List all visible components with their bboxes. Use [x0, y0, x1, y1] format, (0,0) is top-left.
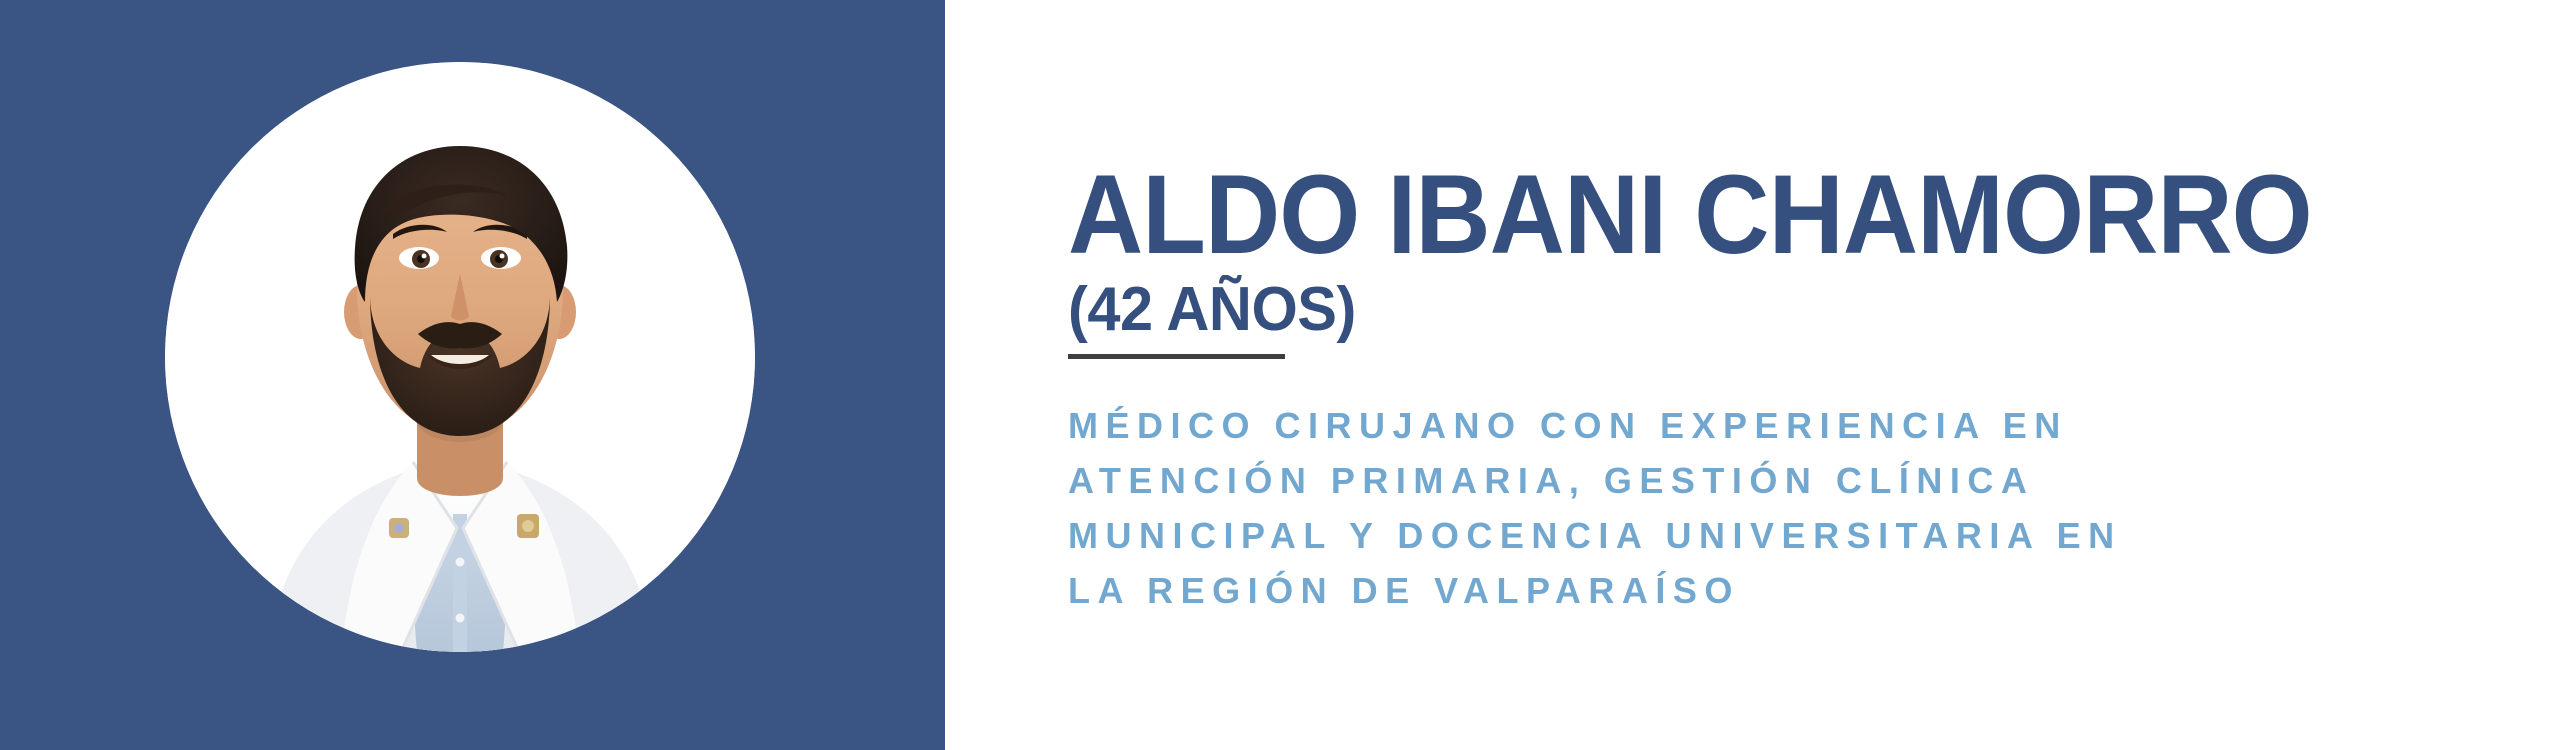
- summary-line-1: MÉDICO CIRUJANO CON EXPERIENCIA EN: [1068, 398, 2468, 453]
- lapel-pin-right: [517, 514, 539, 538]
- page-title: ALDO IBANI CHAMORRO: [1068, 163, 2312, 267]
- profile-banner: ALDO IBANI CHAMORRO (42 AÑOS) MÉDICO CIR…: [0, 0, 2560, 750]
- profile-info: ALDO IBANI CHAMORRO (42 AÑOS) MÉDICO CIR…: [1068, 0, 2488, 750]
- summary-line-3: MUNICIPAL Y DOCENCIA UNIVERSITARIA EN: [1068, 508, 2468, 563]
- age-subtitle: (42 AÑOS): [1068, 278, 1356, 342]
- summary-line-4: LA REGIÓN DE VALPARAÍSO: [1068, 563, 2468, 618]
- title-underline-rule: [1068, 354, 1285, 359]
- summary-line-2: ATENCIÓN PRIMARIA, GESTIÓN CLÍNICA: [1068, 453, 2468, 508]
- lapel-pin-left: [389, 518, 409, 538]
- avatar: [165, 62, 755, 652]
- photo-panel: [0, 0, 945, 750]
- summary-block: MÉDICO CIRUJANO CON EXPERIENCIA EN ATENC…: [1068, 398, 2468, 618]
- portrait-photo: [165, 62, 755, 652]
